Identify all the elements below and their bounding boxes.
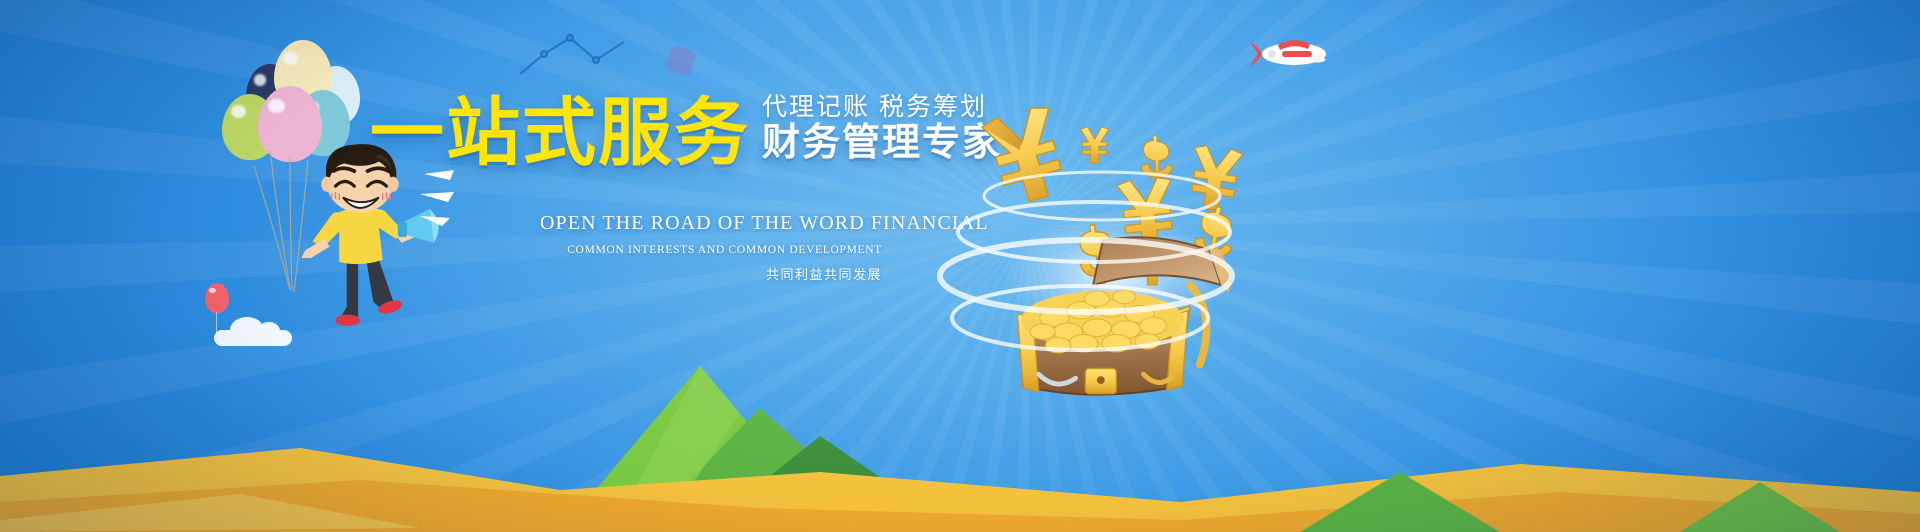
promotional-banner: 一站式服务 代理记账 税务筹划 财务管理专家 OPEN THE ROAD OF … — [0, 0, 1920, 532]
paper-plane-icon — [1248, 32, 1334, 78]
subtitle-line-2: COMMON INTERESTS AND COMMON DEVELOPMENT — [540, 244, 882, 256]
line-chart-deco — [518, 32, 628, 78]
subtitle-line-3: 共同利益共同发展 — [540, 264, 882, 283]
headline-main: 一站式服务 — [370, 97, 750, 168]
cloud-shape — [214, 330, 292, 346]
landscape-foreground — [0, 352, 1920, 532]
megaphone-sound-lines — [420, 168, 480, 232]
subtitle-line-1: OPEN THE ROAD OF THE WORD FINANCIAL — [540, 212, 882, 235]
subtitle-block: OPEN THE ROAD OF THE WORD FINANCIAL COMM… — [540, 212, 882, 283]
small-red-balloon — [205, 283, 229, 313]
headline-block: 一站式服务 代理记账 税务筹划 财务管理专家 — [370, 92, 1002, 168]
hexagon-deco — [664, 44, 697, 77]
